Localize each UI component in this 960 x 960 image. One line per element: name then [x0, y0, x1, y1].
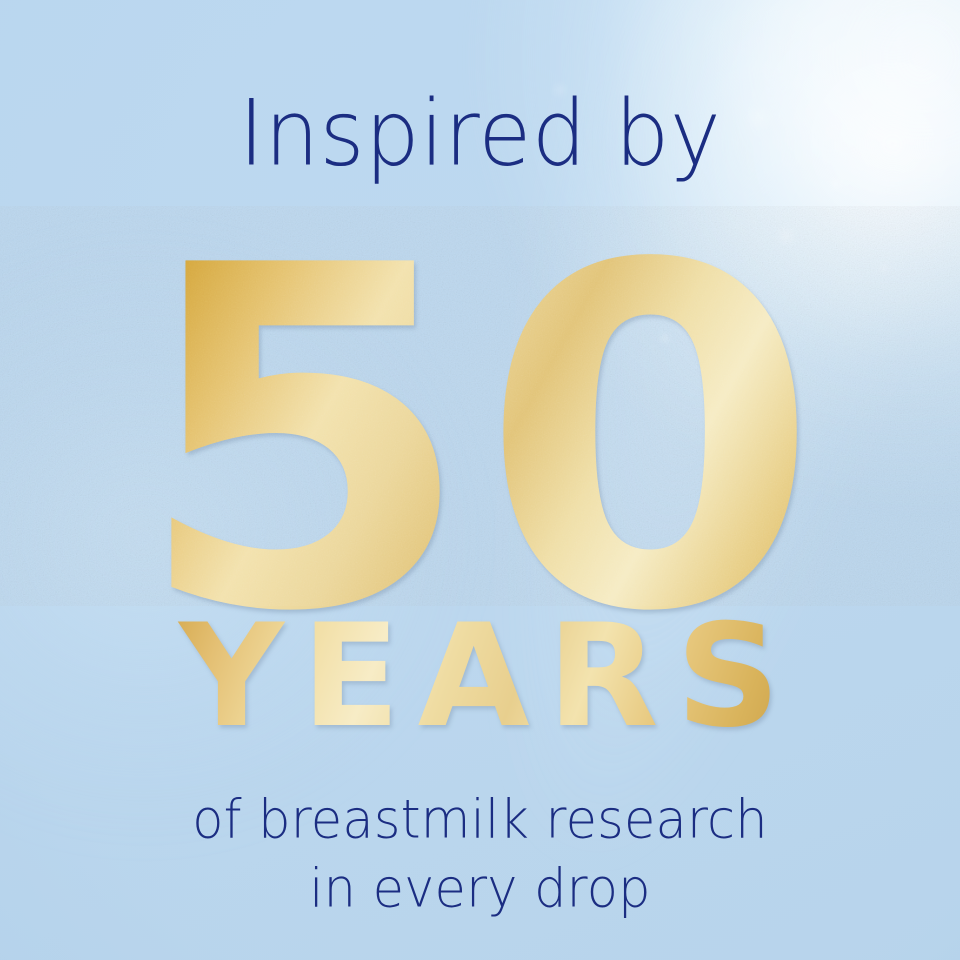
banner-content: Inspired by 50 YEARS of breastmilk resea…	[0, 0, 960, 960]
anniversary-unit-wrap: YEARS	[0, 606, 960, 748]
tagline-line-1: of breastmilk research	[0, 786, 960, 856]
tagline: of breastmilk research in every drop	[0, 786, 960, 925]
anniversary-unit: YEARS	[162, 606, 798, 748]
anniversary-number-wrap: 50	[0, 206, 960, 606]
promotional-banner: Inspired by 50 YEARS of breastmilk resea…	[0, 0, 960, 960]
headline-text: Inspired by	[0, 88, 960, 179]
tagline-line-2: in every drop	[0, 856, 960, 926]
